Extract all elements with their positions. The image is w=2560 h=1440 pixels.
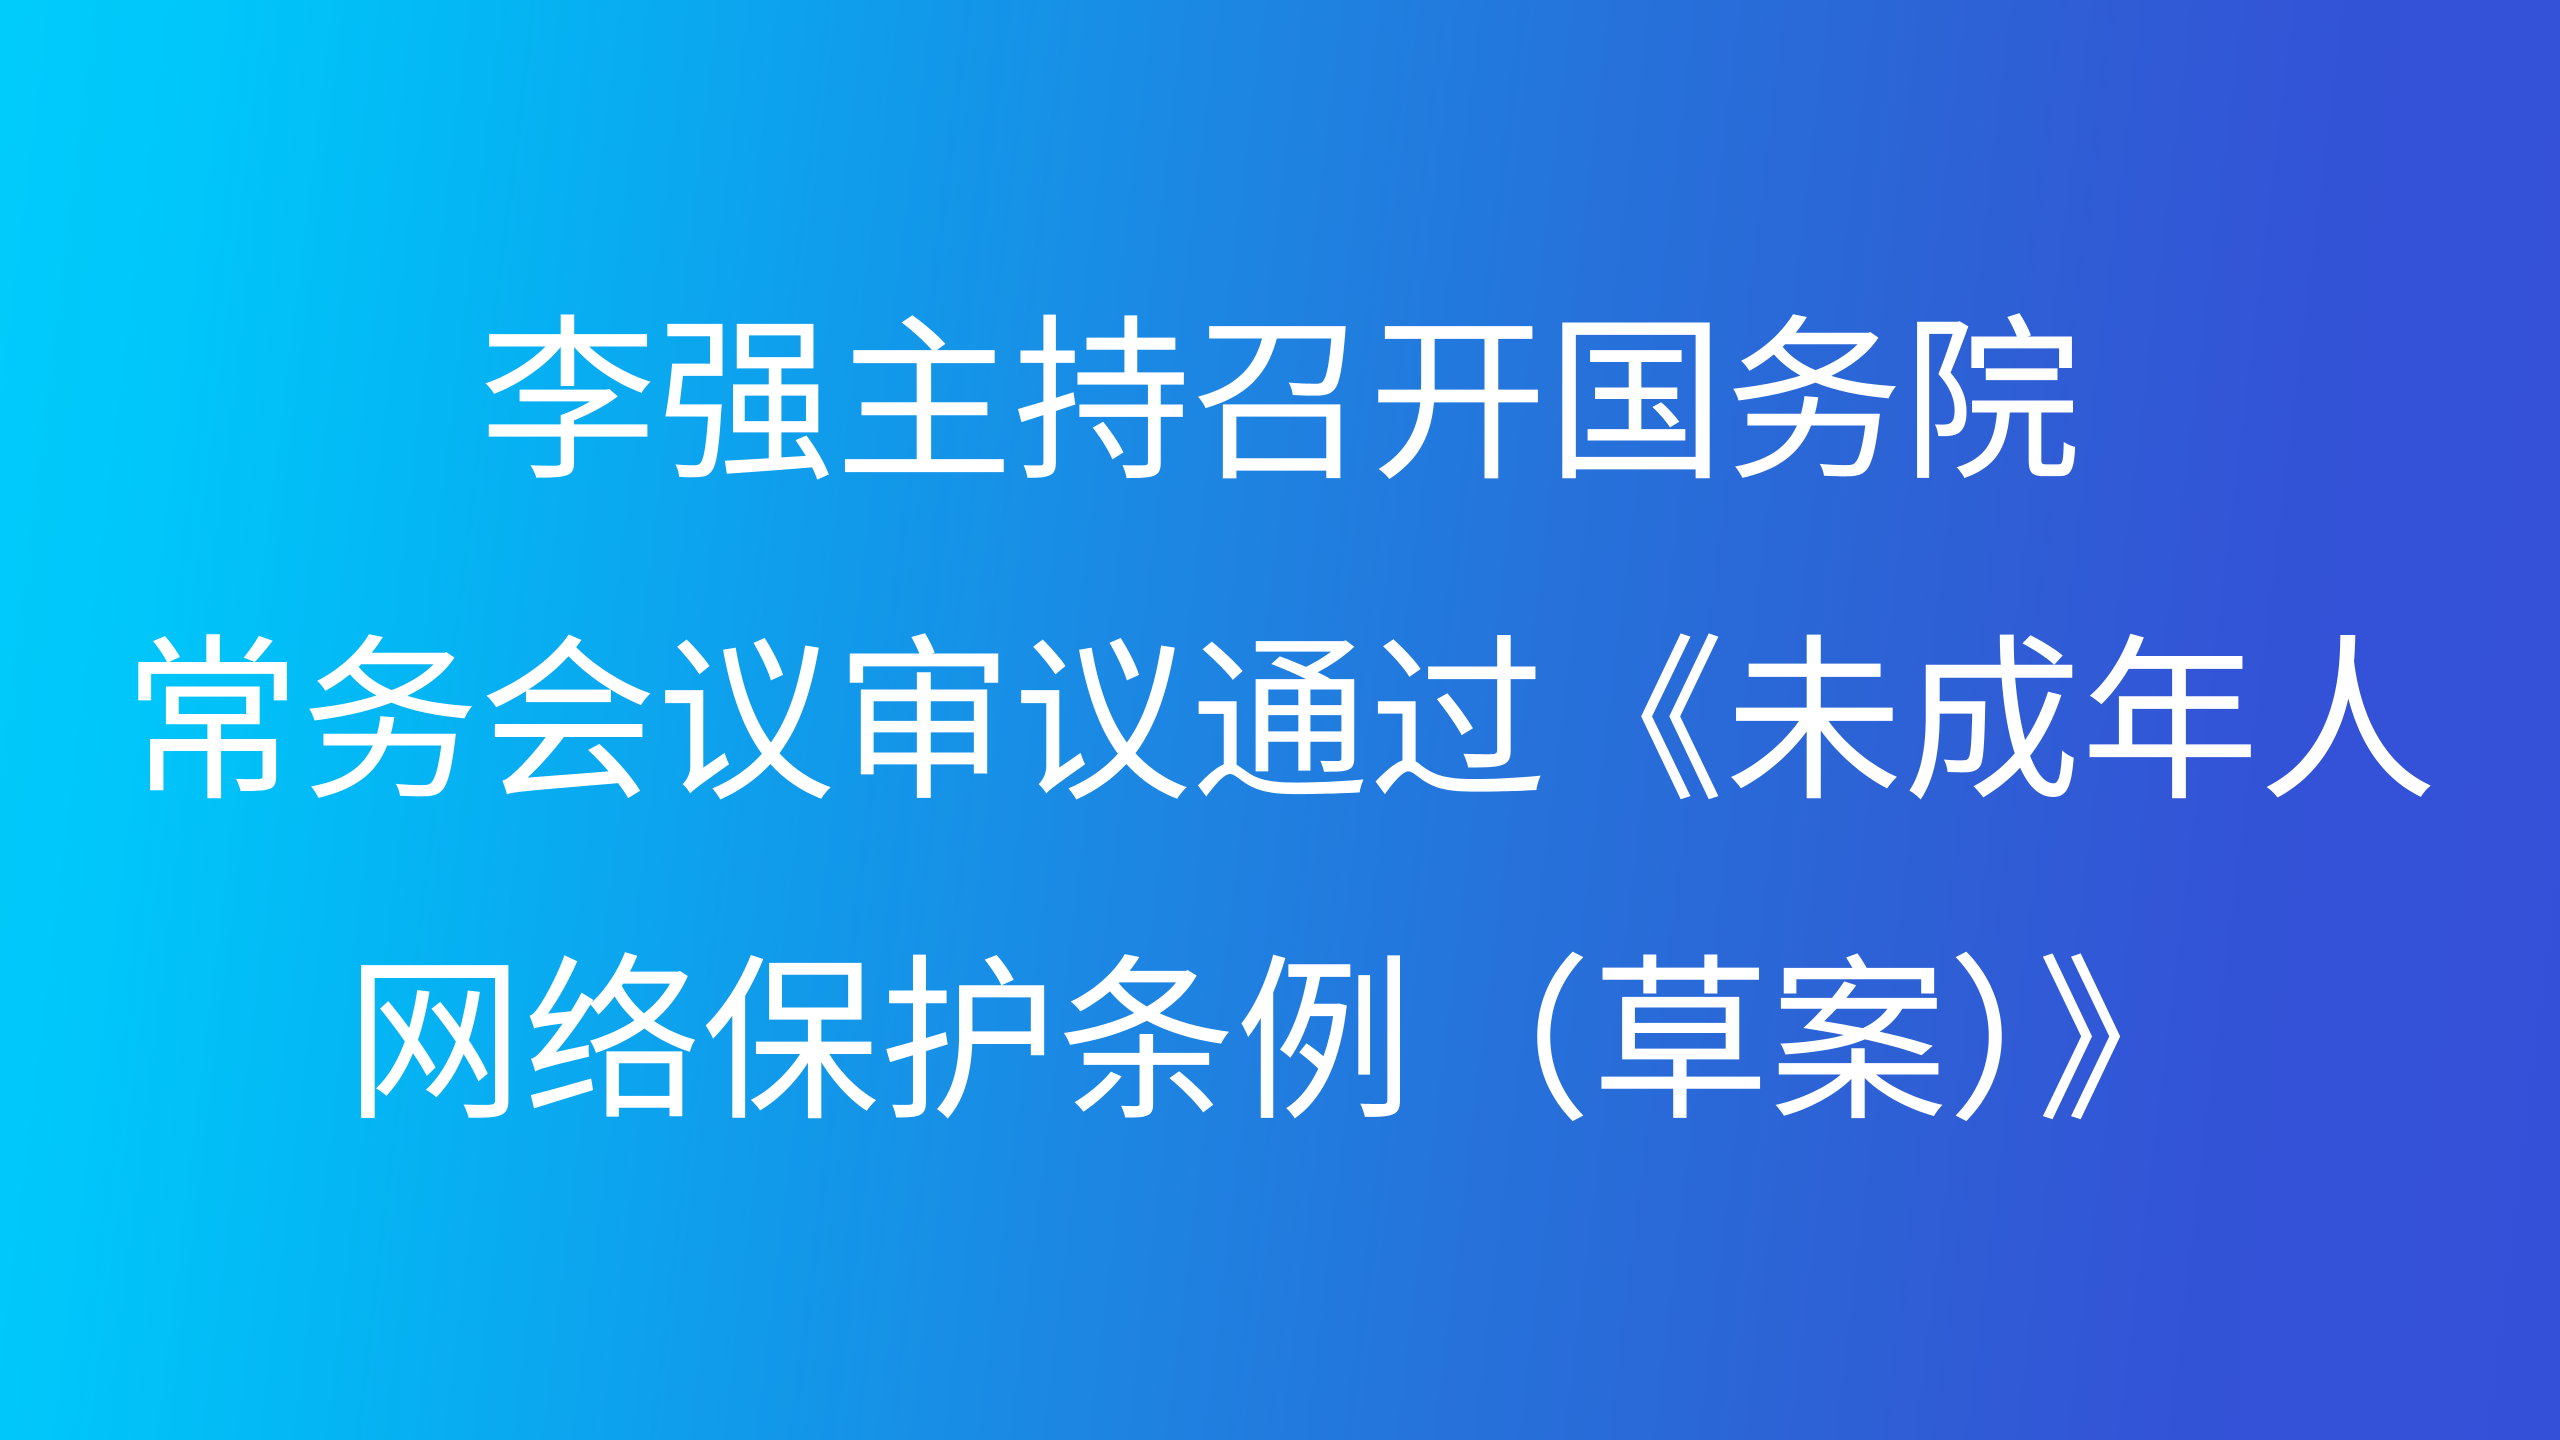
headline-line-2: 常务会议审议通过《未成年人 [80,563,2480,883]
headline-line-1: 李强主持召开国务院 [80,243,2480,563]
headline-line-3: 网络保护条例（草案）》 [80,883,2480,1203]
headline-block: 李强主持召开国务院 常务会议审议通过《未成年人 网络保护条例（草案）》 [80,237,2480,1203]
poster-background: 李强主持召开国务院 常务会议审议通过《未成年人 网络保护条例（草案）》 [0,0,2560,1440]
